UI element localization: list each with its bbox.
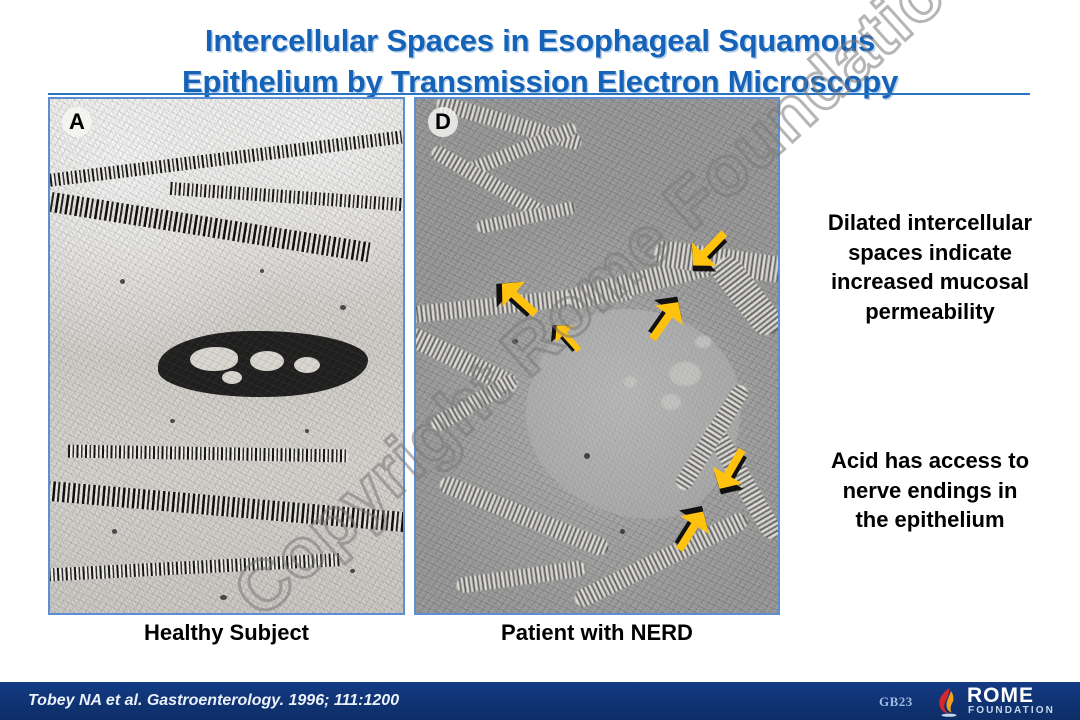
footer-bar: Tobey NA et al. Gastroenterology. 1996; … bbox=[0, 682, 1080, 720]
dark-speck bbox=[340, 305, 346, 310]
micrograph-panel-nerd: D bbox=[414, 97, 780, 615]
dark-speck bbox=[350, 569, 355, 573]
dark-speck bbox=[120, 279, 125, 284]
dark-speck bbox=[305, 429, 309, 433]
dark-speck bbox=[260, 269, 264, 273]
panel-label-d: D bbox=[428, 107, 458, 137]
logo-subtitle: FOUNDATION bbox=[968, 706, 1055, 716]
panel-label-a: A bbox=[62, 107, 92, 137]
dark-speck bbox=[220, 595, 227, 600]
tem-image-healthy bbox=[50, 99, 403, 613]
micrograph-panel-healthy: A bbox=[48, 97, 405, 615]
dark-speck bbox=[112, 529, 117, 534]
caption-healthy-subject: Healthy Subject bbox=[48, 620, 405, 646]
callout-acid-access: Acid has access to nerve endings in the … bbox=[786, 446, 1074, 535]
citation-text: Tobey NA et al. Gastroenterology. 1996; … bbox=[28, 692, 399, 710]
logo-wordmark: ROME bbox=[967, 685, 1034, 706]
tem-image-nerd bbox=[416, 99, 778, 613]
rome-foundation-logo: ROME FOUNDATION bbox=[935, 685, 1075, 719]
tem-grain-texture bbox=[414, 97, 780, 615]
dark-speck bbox=[170, 419, 175, 423]
page-title: Intercellular Spaces in Esophageal Squam… bbox=[0, 20, 1080, 102]
tem-grain-texture bbox=[48, 97, 405, 615]
caption-patient-nerd: Patient with NERD bbox=[414, 620, 780, 646]
rome-flame-icon bbox=[935, 687, 963, 717]
title-divider bbox=[48, 93, 1030, 95]
slide-code: GB23 bbox=[879, 694, 913, 710]
callout-dilated-spaces: Dilated intercellular spaces indicate in… bbox=[786, 208, 1074, 327]
